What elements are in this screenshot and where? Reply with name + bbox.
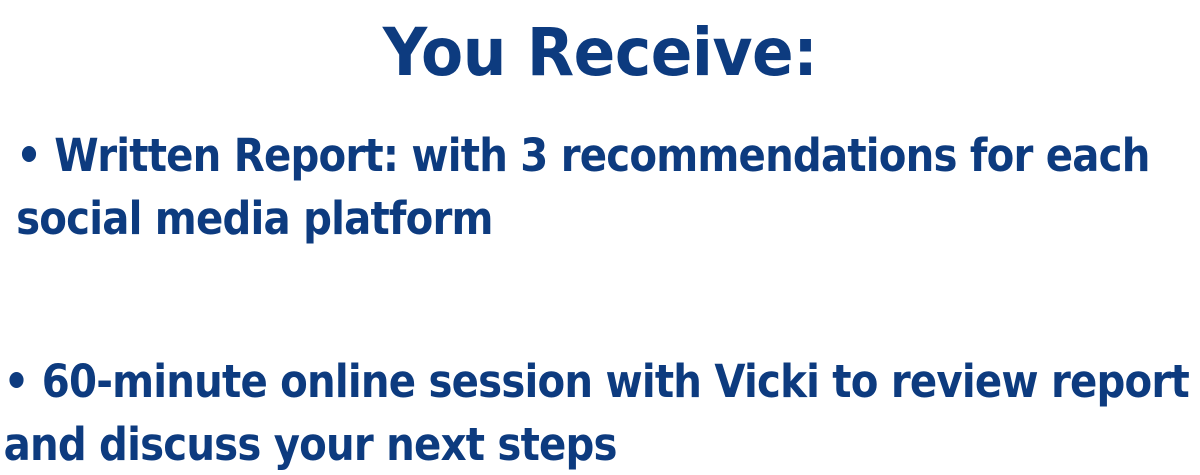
list-item-label: Written Report: with 3 recommendations f… xyxy=(16,129,1149,245)
list-item: • Written Report: with 3 recommendations… xyxy=(0,124,1198,250)
bullet-dot-icon: • xyxy=(4,355,29,408)
page-title: You Receive: xyxy=(42,14,1158,92)
benefits-list: • Written Report: with 3 recommendations… xyxy=(0,124,1200,475)
slide-canvas: You Receive: • Written Report: with 3 re… xyxy=(0,0,1200,475)
list-item: • 60-minute online session with Vicki to… xyxy=(0,350,1194,475)
bullet-dot-icon: • xyxy=(16,129,41,182)
list-item-label: 60-minute online session with Vicki to r… xyxy=(4,355,1189,471)
